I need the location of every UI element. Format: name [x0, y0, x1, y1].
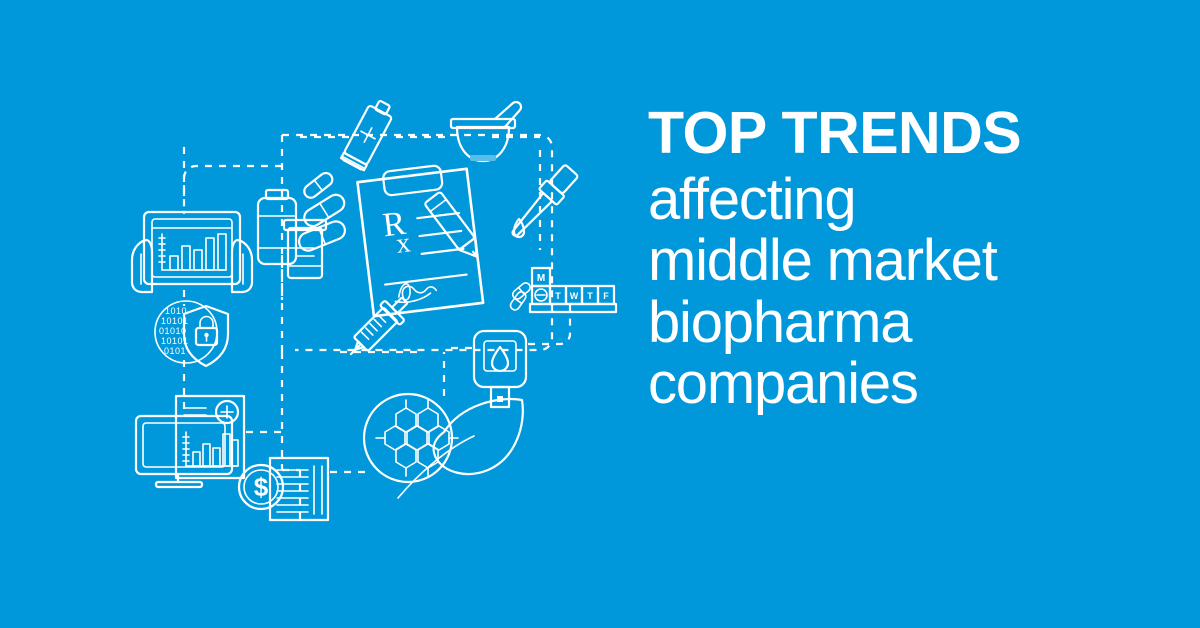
svg-text:T: T: [587, 291, 593, 301]
svg-text:0101: 0101: [164, 346, 186, 356]
headline-subtitle: affecting middle market biopharma compan…: [648, 169, 1118, 415]
pipette-dropper: [505, 162, 581, 243]
headline-subtitle-line-2: middle market: [648, 230, 1118, 291]
headline-subtitle-line-3: biopharma: [648, 292, 1118, 353]
molecule-leaf: [364, 394, 523, 498]
svg-text:$: $: [254, 472, 269, 502]
svg-text:T: T: [555, 291, 561, 301]
illustration-icon-network: .ln { fill:none; stroke:#ffffff; stroke-…: [0, 0, 640, 628]
headline-subtitle-line-4: companies: [648, 353, 1118, 414]
connector-lines: [184, 135, 570, 520]
mortar-and-pestle: [451, 102, 521, 161]
banner-root: .ln { fill:none; stroke:#ffffff; stroke-…: [0, 0, 1200, 628]
glucose-meter: [474, 331, 526, 407]
svg-text:x: x: [394, 227, 412, 259]
ointment-tube: [341, 97, 397, 171]
monitor-medical-report: [136, 396, 244, 487]
invoice-dollar-coin: $: [239, 458, 328, 520]
prescription-pad: R x: [357, 161, 491, 316]
headline-title: TOP TRENDS: [648, 104, 1118, 163]
headline-block: TOP TRENDS affecting middle market bioph…: [648, 104, 1118, 415]
headline-subtitle-line-1: affecting: [648, 169, 1118, 230]
tablet-bar-chart-in-hands: [132, 212, 252, 292]
medicine-bottles: [258, 190, 326, 278]
pill-organizer: M T W T F: [509, 268, 616, 312]
svg-text:01010: 01010: [159, 326, 187, 336]
svg-text:M: M: [537, 273, 545, 284]
svg-text:W: W: [570, 291, 579, 301]
svg-text:F: F: [603, 291, 609, 301]
data-security-lock: 1010 10101 01010 10101 0101: [155, 301, 228, 366]
